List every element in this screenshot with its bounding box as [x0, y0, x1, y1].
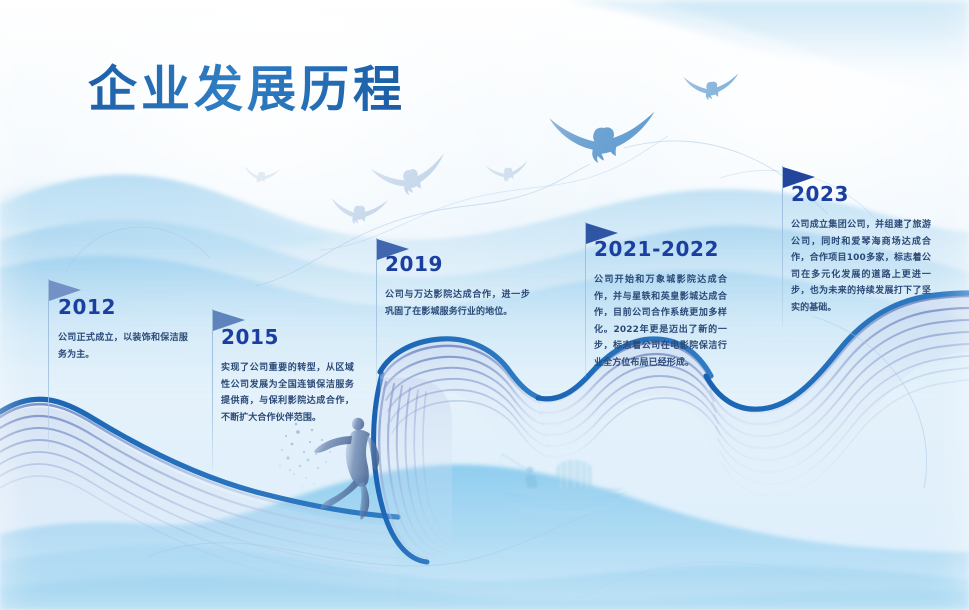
milestone-2023: 2023 公司成立集团公司，并组建了旅游公司，同时和爱琴海商场达成合作，合作项目… — [791, 182, 931, 316]
milestone-description: 公司正式成立，以装饰和保洁服务为主。 — [58, 330, 188, 363]
milestone-description: 实现了公司重要的转型，从区域性公司发展为全国连锁保洁服务提供商，与保利影院达成合… — [221, 360, 354, 426]
milestone-description: 公司与万达影院达成合作，进一步巩固了在影城服务行业的地位。 — [385, 287, 530, 320]
milestone-year: 2012 — [58, 295, 188, 319]
seagull-large-center — [549, 112, 654, 163]
milestone-2012: 2012 公司正式成立，以装饰和保洁服务为主。 — [58, 295, 188, 363]
ribbon-twist-loop — [374, 374, 458, 562]
milestone-2019: 2019 公司与万达影院达成合作，进一步巩固了在影城服务行业的地位。 — [385, 252, 530, 320]
milestone-2015: 2015 实现了公司重要的转型，从区域性公司发展为全国连锁保洁服务提供商，与保利… — [221, 325, 354, 426]
seagull-small-right — [486, 160, 529, 183]
seagull-far-left — [242, 163, 280, 186]
milestone-description: 公司开始和万象城影院达成合作，并与星轶和英皇影城达成合作，目前公司合作系统更加多… — [594, 272, 727, 371]
ribbon-left-segment — [0, 399, 398, 610]
running-man-silhouette — [279, 418, 379, 520]
seagull-upper-right — [683, 74, 738, 101]
milestone-2021-2022: 2021-2022 公司开始和万象城影院达成合作，并与星轶和英皇影城达成合作，目… — [594, 237, 727, 371]
page-title: 企业发展历程 — [88, 60, 406, 120]
fishing-boat-silhouette — [501, 454, 629, 517]
infographic-canvas: 企业发展历程 2012 公司正式成立，以装饰和保洁服务为主。 2015 实现了公… — [0, 0, 969, 610]
ribbon-right-rise — [704, 293, 969, 496]
milestone-description: 公司成立集团公司，并组建了旅游公司，同时和爱琴海商场达成合作，合作项目100多家… — [791, 217, 931, 316]
milestone-year: 2019 — [385, 252, 530, 276]
milestone-year: 2021-2022 — [594, 237, 727, 261]
ribbon-upper-plateau — [380, 339, 550, 458]
seagull-lower-left — [329, 194, 388, 227]
milestone-year: 2023 — [791, 182, 931, 206]
seagull-mid-left — [370, 154, 449, 200]
milestone-year: 2015 — [221, 325, 354, 349]
